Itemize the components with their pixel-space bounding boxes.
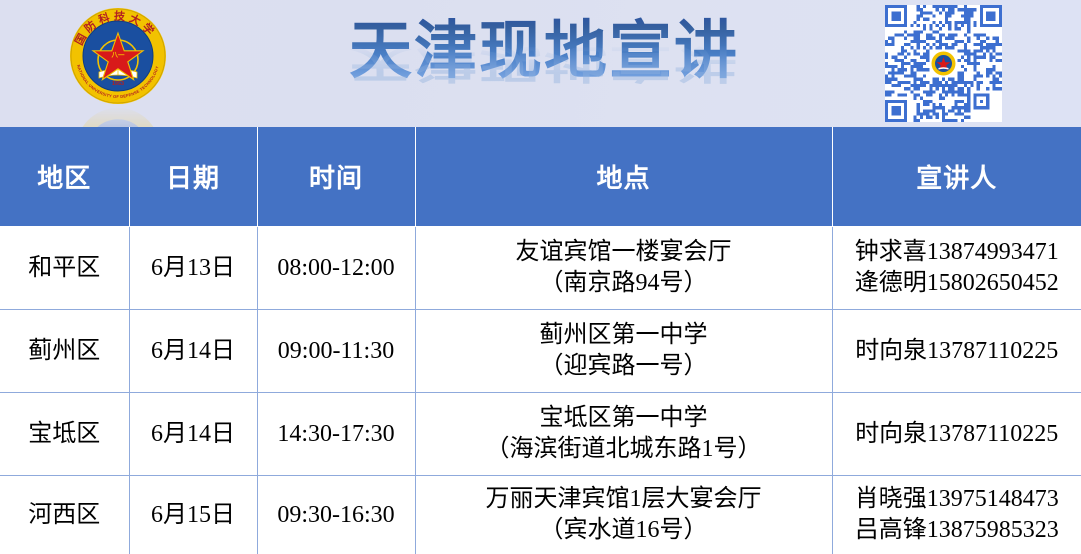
cell-speaker-line: 逄德明15802650452 — [833, 268, 1081, 299]
banner-title-block: 天津现地宣讲 天津现地宣讲 — [318, 14, 770, 126]
column-header-time: 时间 — [257, 127, 415, 227]
cell-venue-line: 宝坻区第一中学 — [416, 403, 832, 434]
cell-region: 和平区 — [0, 227, 129, 310]
svg-text:八一: 八一 — [111, 51, 126, 59]
poster-root: 国防科技大学 NATIONAL UNIVERSITY OF DEFENSE TE… — [0, 0, 1081, 553]
cell-region: 蓟州区 — [0, 310, 129, 393]
schedule-table: 地区 日期 时间 地点 宣讲人 和平区6月13日08:00-12:00友谊宾馆一… — [0, 127, 1081, 554]
cell-venue: 万丽天津宾馆1层大宴会厅（宾水道16号） — [415, 476, 832, 554]
cell-speaker-line: 时向泉13787110225 — [833, 419, 1081, 450]
cell-venue: 宝坻区第一中学（海滨街道北城东路1号） — [415, 393, 832, 476]
cell-venue: 友谊宾馆一楼宴会厅（南京路94号） — [415, 227, 832, 310]
cell-speaker: 肖晓强13975148473吕高锋13875985323 — [832, 476, 1081, 554]
cell-date: 6月14日 — [129, 393, 257, 476]
table-row: 蓟州区6月14日09:00-11:30蓟州区第一中学（迎宾路一号）时向泉1378… — [0, 310, 1081, 393]
banner-title-reflection: 天津现地宣讲 — [318, 40, 770, 86]
cell-region: 河西区 — [0, 476, 129, 554]
cell-venue-line: 万丽天津宾馆1层大宴会厅 — [416, 484, 832, 515]
table-body: 和平区6月13日08:00-12:00友谊宾馆一楼宴会厅（南京路94号）钟求喜1… — [0, 227, 1081, 554]
cell-time: 08:00-12:00 — [257, 227, 415, 310]
column-header-region: 地区 — [0, 127, 129, 227]
emblem-reflection — [74, 106, 162, 127]
cell-region: 宝坻区 — [0, 393, 129, 476]
university-emblem: 国防科技大学 NATIONAL UNIVERSITY OF DEFENSE TE… — [68, 6, 180, 118]
cell-speaker-line: 钟求喜13874993471 — [833, 237, 1081, 268]
column-header-date: 日期 — [129, 127, 257, 227]
cell-date: 6月15日 — [129, 476, 257, 554]
cell-speaker-line: 时向泉13787110225 — [833, 336, 1081, 367]
cell-speaker-line: 吕高锋13875985323 — [833, 515, 1081, 546]
cell-speaker: 时向泉13787110225 — [832, 310, 1081, 393]
cell-speaker: 时向泉13787110225 — [832, 393, 1081, 476]
cell-date: 6月14日 — [129, 310, 257, 393]
banner: 国防科技大学 NATIONAL UNIVERSITY OF DEFENSE TE… — [0, 0, 1081, 127]
cell-venue-line: 蓟州区第一中学 — [416, 320, 832, 351]
svg-text:1953: 1953 — [112, 81, 124, 87]
qr-code[interactable] — [885, 5, 1002, 122]
emblem-reflection-icon — [74, 106, 162, 127]
column-header-speaker: 宣讲人 — [832, 127, 1081, 227]
cell-time: 14:30-17:30 — [257, 393, 415, 476]
cell-speaker: 钟求喜13874993471逄德明15802650452 — [832, 227, 1081, 310]
table-row: 河西区6月15日09:30-16:30万丽天津宾馆1层大宴会厅（宾水道16号）肖… — [0, 476, 1081, 554]
cell-venue: 蓟州区第一中学（迎宾路一号） — [415, 310, 832, 393]
cell-time: 09:30-16:30 — [257, 476, 415, 554]
table-row: 宝坻区6月14日14:30-17:30宝坻区第一中学（海滨街道北城东路1号）时向… — [0, 393, 1081, 476]
table-row: 和平区6月13日08:00-12:00友谊宾馆一楼宴会厅（南京路94号）钟求喜1… — [0, 227, 1081, 310]
nudt-emblem-icon: 国防科技大学 NATIONAL UNIVERSITY OF DEFENSE TE… — [68, 6, 168, 106]
cell-venue-line: （南京路94号） — [416, 268, 832, 299]
header-row: 地区 日期 时间 地点 宣讲人 — [0, 127, 1081, 227]
column-header-venue: 地点 — [415, 127, 832, 227]
table-header: 地区 日期 时间 地点 宣讲人 — [0, 127, 1081, 227]
cell-speaker-line: 肖晓强13975148473 — [833, 484, 1081, 515]
qr-center-emblem-icon — [931, 51, 956, 76]
cell-time: 09:00-11:30 — [257, 310, 415, 393]
cell-venue-line: 友谊宾馆一楼宴会厅 — [416, 237, 832, 268]
cell-venue-line: （海滨街道北城东路1号） — [416, 434, 832, 465]
cell-venue-line: （宾水道16号） — [416, 515, 832, 546]
cell-date: 6月13日 — [129, 227, 257, 310]
cell-venue-line: （迎宾路一号） — [416, 351, 832, 382]
